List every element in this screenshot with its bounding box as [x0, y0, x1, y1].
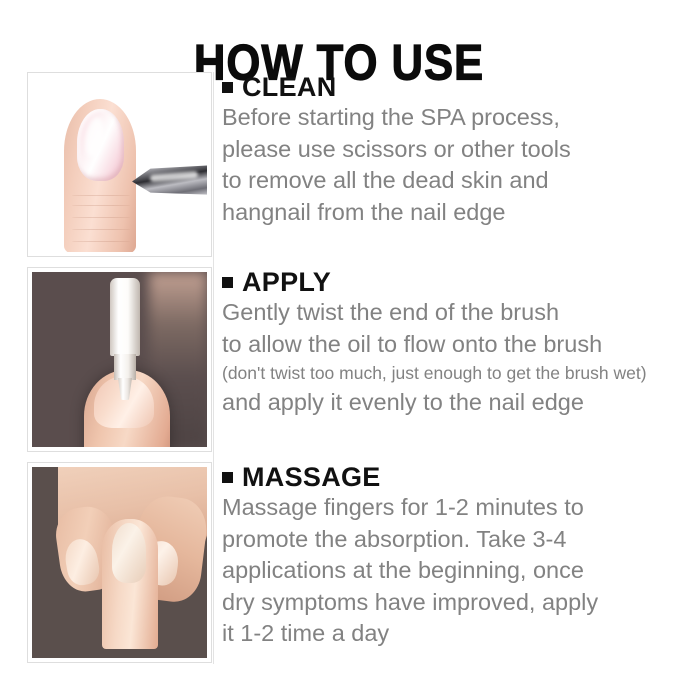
skin-crease — [72, 195, 130, 196]
thumbnail-apply — [27, 267, 212, 452]
body-line: to remove all the dead skin and — [222, 165, 674, 197]
body-line: Massage fingers for 1-2 minutes to — [222, 492, 674, 524]
text-column-massage: MASSAGE Massage fingers for 1-2 minutes … — [222, 462, 674, 650]
body-line: it 1-2 time a day — [222, 618, 674, 650]
finger-shape — [64, 99, 136, 252]
square-bullet-icon — [222, 82, 233, 93]
heading-label: MASSAGE — [242, 462, 381, 492]
skin-crease — [72, 205, 130, 206]
body-line: dry symptoms have improved, apply — [222, 587, 674, 619]
section-heading-massage: MASSAGE — [222, 462, 674, 492]
white-pen-applicator-on-nail-photo — [32, 272, 207, 447]
heading-label: APPLY — [242, 267, 331, 297]
pen-neck — [114, 354, 136, 380]
pen-body — [110, 278, 140, 356]
body-line: to allow the oil to flow onto the brush — [222, 329, 674, 361]
thumbnail-massage — [27, 462, 212, 663]
finger-with-cuticle-tool-photo — [32, 77, 207, 252]
section-heading-apply: APPLY — [222, 267, 674, 297]
fingernail-middle — [112, 523, 146, 583]
text-column-clean: CLEAN Before starting the SPA process, p… — [222, 72, 674, 228]
skin-crease — [72, 229, 130, 230]
body-line: and apply it evenly to the nail edge — [222, 387, 674, 419]
square-bullet-icon — [222, 277, 233, 288]
text-column-apply: APPLY Gently twist the end of the brush … — [222, 267, 674, 419]
heading-label: CLEAN — [242, 72, 337, 102]
square-bullet-icon — [222, 472, 233, 483]
body-line: hangnail from the nail edge — [222, 197, 674, 229]
section-heading-clean: CLEAN — [222, 72, 674, 102]
how-to-use-infographic: HOW TO USE CLEAN — [0, 0, 679, 679]
column-divider — [213, 72, 214, 664]
body-line-note: (don't twist too much, just enough to ge… — [222, 360, 674, 387]
thumbnail-clean — [27, 72, 212, 257]
body-line: Gently twist the end of the brush — [222, 297, 674, 329]
skin-crease — [72, 217, 130, 218]
body-line: please use scissors or other tools — [222, 134, 674, 166]
body-line: applications at the beginning, once — [222, 555, 674, 587]
fingers-massaging-nail-photo — [32, 467, 207, 658]
body-line: promote the absorption. Take 3-4 — [222, 524, 674, 556]
body-line: Before starting the SPA process, — [222, 102, 674, 134]
skin-crease — [72, 241, 130, 242]
